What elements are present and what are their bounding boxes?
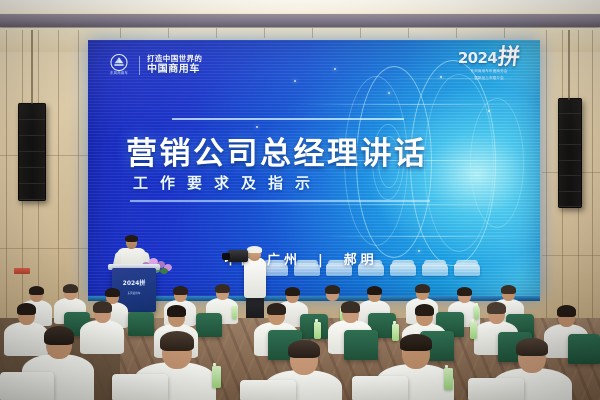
line-array-speaker-right bbox=[558, 98, 582, 208]
cameraman-cap bbox=[247, 246, 262, 253]
chair bbox=[352, 376, 408, 400]
water-bottle bbox=[232, 306, 237, 319]
panel-seam bbox=[216, 28, 217, 38]
wall-groove bbox=[6, 30, 7, 320]
podium-brand-char: 拼 bbox=[139, 280, 145, 287]
water-bottle bbox=[212, 366, 221, 388]
chair bbox=[196, 313, 222, 337]
title-rule-top bbox=[172, 118, 404, 120]
wall-horizontal-seam bbox=[542, 255, 600, 256]
exit-sign bbox=[14, 268, 30, 274]
title-rule-bottom bbox=[130, 200, 430, 202]
speaker-rigging-cable bbox=[31, 30, 33, 104]
wall-horizontal-seam bbox=[0, 248, 90, 249]
water-bottle bbox=[474, 306, 479, 319]
speaker-rigging-cable bbox=[568, 30, 570, 100]
panel-seam bbox=[408, 28, 409, 38]
chair bbox=[468, 378, 524, 400]
panel-seam bbox=[504, 28, 505, 38]
wall-groove bbox=[546, 30, 547, 320]
water-bottle bbox=[314, 322, 321, 339]
line-array-speaker-left bbox=[18, 103, 46, 201]
panel-seam bbox=[360, 28, 361, 38]
ceiling-beam bbox=[0, 14, 600, 27]
chair bbox=[0, 372, 54, 400]
water-bottle bbox=[444, 368, 453, 390]
camera-lens-icon bbox=[222, 253, 230, 260]
conference-hall-photo: 东风商用车 打造中国世界的 中国商用车 2024 拼 东风商用车年度商务会 暨新… bbox=[0, 0, 600, 400]
podium-brand-year: 2024 bbox=[123, 280, 140, 287]
cameraman-torso bbox=[244, 258, 266, 298]
wall-groove bbox=[58, 30, 59, 320]
chair bbox=[112, 374, 168, 400]
panel-seam bbox=[168, 28, 169, 38]
water-bottle bbox=[392, 324, 399, 341]
water-bottle bbox=[470, 322, 477, 339]
wall-groove bbox=[592, 30, 593, 320]
chair bbox=[568, 334, 600, 364]
panel-seam bbox=[312, 28, 313, 38]
presentation-title: 营销公司总经理讲话 bbox=[126, 128, 428, 173]
panel-seam bbox=[120, 28, 121, 38]
chair bbox=[240, 380, 296, 400]
video-camera-icon bbox=[228, 250, 248, 262]
wall-groove bbox=[78, 30, 79, 320]
presenter-hair bbox=[125, 235, 138, 242]
presentation-subtitle: 工作要求及指示 bbox=[133, 172, 322, 193]
podium-brand-mark: 2024拼 bbox=[116, 281, 152, 287]
panel-seam bbox=[456, 28, 457, 38]
panel-seam bbox=[264, 28, 265, 38]
chair bbox=[128, 312, 154, 336]
chair bbox=[344, 330, 378, 360]
